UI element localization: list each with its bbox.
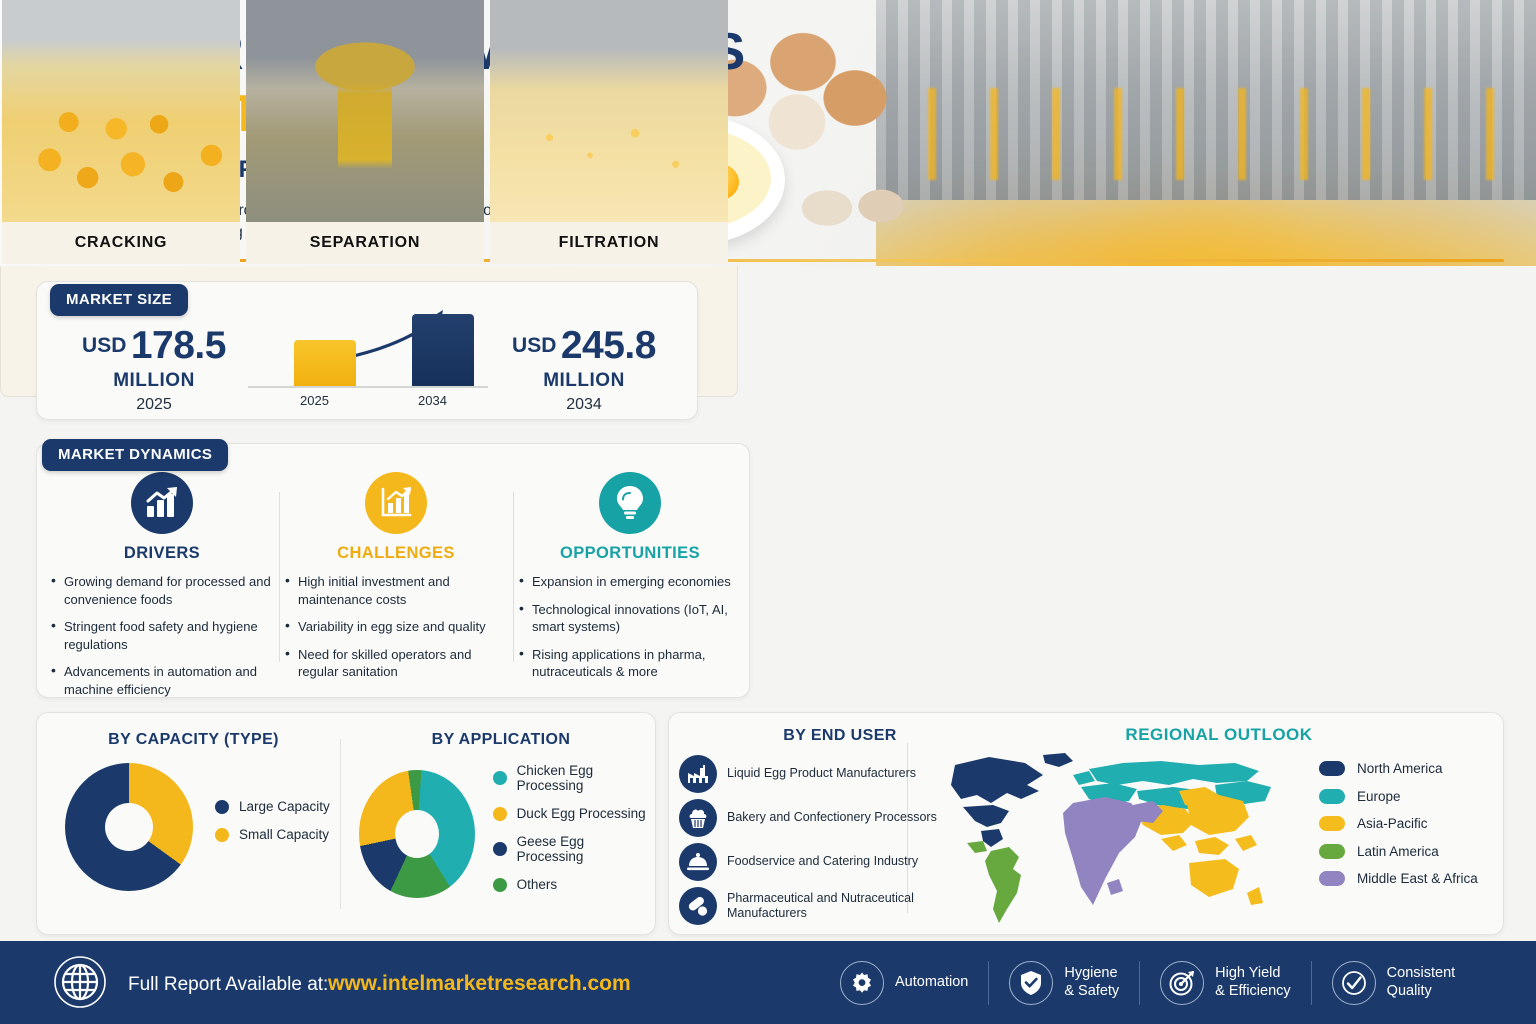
legend-item: Chicken Egg Processing: [493, 763, 647, 793]
dynamics-column-opportunities: OPPORTUNITIES Expansion in emerging econ…: [519, 472, 741, 691]
segment-divider: [340, 739, 341, 909]
process-step-separation: SEPARATION: [246, 133, 484, 264]
badge-label: High Yield: [1215, 965, 1280, 981]
legend-item: Large Capacity: [215, 799, 330, 814]
bar-2025: [294, 340, 356, 386]
legend-swatch: [215, 800, 229, 814]
application-chart-title: BY APPLICATION: [355, 731, 647, 749]
world-map: [947, 747, 1307, 927]
end-user-label: Bakery and Confectionery Processors: [727, 810, 937, 826]
list-item: Growing demand for processed and conveni…: [51, 573, 273, 608]
legend-swatch: [1319, 789, 1345, 804]
column-divider: [279, 492, 280, 662]
check-circle-icon: [1332, 961, 1376, 1005]
legend-item: Asia-Pacific: [1319, 816, 1478, 831]
filtration-photo: [490, 133, 728, 222]
segments-card: BY CAPACITY (TYPE) Large Capacity Small …: [36, 712, 656, 935]
list-item: Rising applications in pharma, nutraceut…: [519, 646, 741, 681]
end-user-list: Liquid Egg Product Manufacturers Bakery …: [679, 755, 939, 931]
legend-swatch: [493, 842, 507, 856]
year-label: 2034: [489, 396, 679, 414]
challenges-list: High initial investment and maintenance …: [285, 573, 507, 681]
legend-label: Large Capacity: [239, 799, 330, 814]
market-size-2034: USD 245.8 MILLION 2034: [489, 324, 679, 414]
legend-swatch: [1319, 761, 1345, 776]
process-step-filtration: FILTRATION: [490, 133, 728, 264]
list-item: Advancements in automation and machine e…: [51, 663, 273, 698]
dynamics-column-challenges: CHALLENGES High initial investment and m…: [285, 472, 507, 691]
dynamics-column-drivers: DRIVERS Growing demand for processed and…: [51, 472, 273, 708]
lightbulb-icon: [599, 472, 661, 534]
badge-label: Automation: [895, 974, 968, 990]
capacity-donut-chart: [65, 763, 193, 891]
legend-label: Geese Egg Processing: [517, 834, 647, 864]
market-size-value: 178.5: [131, 324, 226, 367]
legend-label: Small Capacity: [239, 827, 329, 842]
map-region-middle-east-africa: [1063, 797, 1163, 905]
chart-frame-icon: [365, 472, 427, 534]
unit-label: MILLION: [59, 370, 249, 392]
legend-swatch: [493, 807, 507, 821]
gear-icon: [840, 961, 884, 1005]
end-user-regional-card: BY END USER Liquid Egg Product Manufactu…: [668, 712, 1504, 935]
legend-item: Small Capacity: [215, 827, 330, 842]
list-item: Bakery and Confectionery Processors: [679, 799, 939, 837]
factory-icon: [679, 755, 717, 793]
list-item: Expansion in emerging economies: [519, 573, 741, 591]
currency-label: USD: [82, 334, 126, 357]
legend-swatch: [1319, 816, 1345, 831]
legend-swatch: [1319, 844, 1345, 859]
badge-automation: Automation: [820, 961, 988, 1005]
year-label: 2025: [59, 396, 249, 414]
unit-label: MILLION: [489, 370, 679, 392]
legend-item: Europe: [1319, 789, 1478, 804]
legend-label: Others: [517, 877, 558, 892]
process-caption: FILTRATION: [490, 222, 728, 264]
footer-bar: Full Report Available at: www.intelmarke…: [0, 941, 1536, 1024]
application-legend: Chicken Egg Processing Duck Egg Processi…: [493, 763, 647, 905]
legend-item: North America: [1319, 761, 1478, 776]
chart-axis: [248, 386, 488, 388]
list-item: High initial investment and maintenance …: [285, 573, 507, 608]
column-title: CHALLENGES: [285, 544, 507, 563]
growth-chart-icon: [131, 472, 193, 534]
currency-label: USD: [512, 334, 556, 357]
column-title: OPPORTUNITIES: [519, 544, 741, 563]
column-title: DRIVERS: [51, 544, 273, 563]
market-size-value: 245.8: [561, 324, 656, 367]
list-item: Need for skilled operators and regular s…: [285, 646, 507, 681]
application-chart-block: BY APPLICATION Chicken Egg Processing Du…: [355, 731, 647, 905]
end-user-title: BY END USER: [725, 727, 955, 745]
capacity-chart-block: BY CAPACITY (TYPE) Large Capacity Small …: [51, 731, 336, 891]
badge-high-yield: High Yield & Efficiency: [1140, 961, 1311, 1005]
badge-consistent-quality: Consistent Quality: [1312, 961, 1476, 1005]
cloche-icon: [679, 843, 717, 881]
market-size-bar-chart: 2025 2034: [242, 300, 492, 410]
legend-label: Europe: [1357, 789, 1401, 804]
opportunities-list: Expansion in emerging economies Technolo…: [519, 573, 741, 681]
bar-2034: [412, 314, 474, 386]
pill-icon: [679, 887, 717, 925]
globe-icon: [53, 955, 107, 1009]
end-user-label: Foodservice and Catering Industry: [727, 854, 918, 870]
list-item: Variability in egg size and quality: [285, 618, 507, 636]
regional-outlook-title: REGIONAL OUTLOOK: [969, 725, 1469, 745]
market-dynamics-tag: MARKET DYNAMICS: [42, 439, 228, 471]
legend-label: Asia-Pacific: [1357, 816, 1428, 831]
market-size-tag: MARKET SIZE: [50, 284, 188, 316]
capacity-chart-title: BY CAPACITY (TYPE): [51, 731, 336, 749]
legend-label: Chicken Egg Processing: [517, 763, 647, 793]
legend-label: Duck Egg Processing: [517, 806, 646, 821]
application-donut-chart: [359, 770, 475, 898]
legend-swatch: [1319, 871, 1345, 886]
end-user-label: Liquid Egg Product Manufacturers: [727, 766, 916, 782]
legend-item: Geese Egg Processing: [493, 834, 647, 864]
list-item: Pharmaceutical and Nutraceutical Manufac…: [679, 887, 939, 925]
list-item: Stringent food safety and hygiene regula…: [51, 618, 273, 653]
footer-cta-text: Full Report Available at:: [128, 974, 328, 996]
column-divider: [513, 492, 514, 662]
badge-hygiene-safety: Hygiene & Safety: [989, 961, 1139, 1005]
market-size-2025: USD 178.5 MILLION 2025: [59, 324, 249, 414]
legend-label: North America: [1357, 761, 1443, 776]
capacity-legend: Large Capacity Small Capacity: [215, 799, 330, 855]
badge-label-2: & Efficiency: [1215, 983, 1291, 999]
machine-photo: [876, 0, 1536, 266]
legend-item: Latin America: [1319, 844, 1478, 859]
map-region-latin-america: [967, 841, 1021, 923]
badge-label: Hygiene: [1064, 965, 1117, 981]
badge-label: Consistent: [1387, 965, 1456, 981]
target-icon: [1160, 961, 1204, 1005]
legend-item: Others: [493, 877, 647, 892]
shield-check-icon: [1009, 961, 1053, 1005]
infographic-page: EGG BREAKING MACHINES MARKET Global Outl…: [0, 0, 1536, 1024]
legend-swatch: [215, 828, 229, 842]
process-step-cracking: CRACKING: [2, 133, 240, 264]
footer-badges: Automation Hygiene & Safety: [820, 955, 1475, 1010]
badge-label-2: Quality: [1387, 983, 1432, 999]
list-item: Liquid Egg Product Manufacturers: [679, 755, 939, 793]
process-caption: SEPARATION: [246, 222, 484, 264]
legend-swatch: [493, 878, 507, 892]
bar-label-2034: 2034: [418, 393, 447, 408]
footer-url-link[interactable]: www.intelmarketresearch.com: [328, 972, 631, 996]
process-caption: CRACKING: [2, 222, 240, 264]
legend-swatch: [493, 771, 507, 785]
bar-label-2025: 2025: [300, 393, 329, 408]
legend-item: Middle East & Africa: [1319, 871, 1478, 886]
market-dynamics-card: DRIVERS Growing demand for processed and…: [36, 443, 750, 698]
legend-item: Duck Egg Processing: [493, 806, 647, 821]
separation-photo: [246, 133, 484, 222]
end-user-label: Pharmaceutical and Nutraceutical Manufac…: [727, 891, 939, 922]
cracking-photo: [2, 133, 240, 222]
regional-legend: North America Europe Asia-Pacific Latin …: [1319, 761, 1478, 899]
list-item: Technological innovations (IoT, AI, smar…: [519, 601, 741, 636]
badge-label-2: & Safety: [1064, 983, 1119, 999]
legend-label: Middle East & Africa: [1357, 871, 1478, 886]
legend-label: Latin America: [1357, 844, 1439, 859]
list-item: Foodservice and Catering Industry: [679, 843, 939, 881]
map-region-north-america: [951, 753, 1073, 847]
drivers-list: Growing demand for processed and conveni…: [51, 573, 273, 698]
cupcake-icon: [679, 799, 717, 837]
